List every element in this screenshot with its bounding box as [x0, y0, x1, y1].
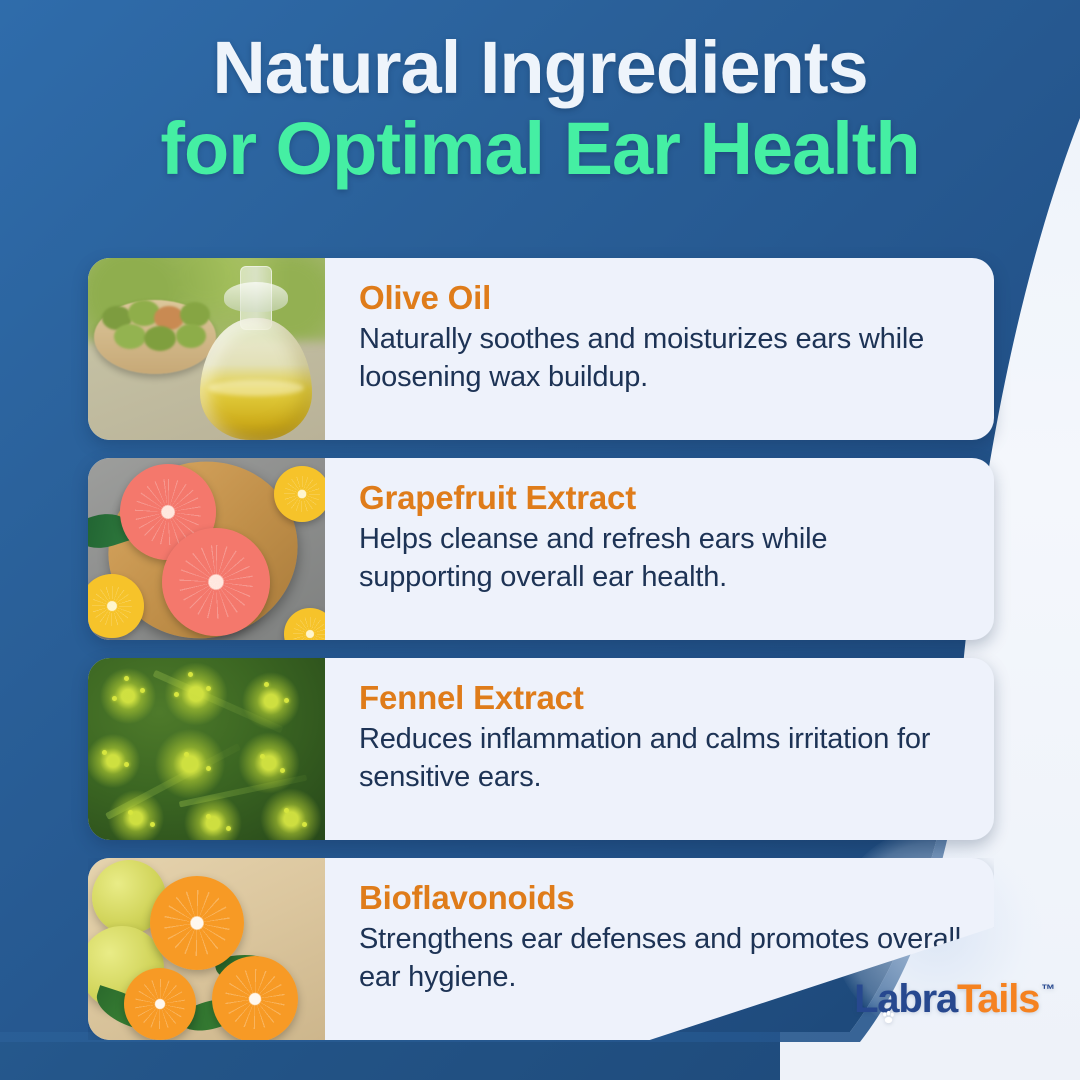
- card-title: Bioflavonoids: [359, 880, 966, 916]
- ingredient-image-olive-oil: [88, 258, 325, 440]
- ingredient-card-list: Olive Oil Naturally soothes and moisturi…: [88, 258, 994, 1058]
- card-title: Grapefruit Extract: [359, 480, 966, 516]
- ingredient-card-fennel-extract[interactable]: Fennel Extract Reduces inflammation and …: [88, 658, 994, 840]
- brand-logo[interactable]: Labra Tails ™: [854, 977, 1054, 1022]
- card-title: Fennel Extract: [359, 680, 966, 716]
- logo-trademark: ™: [1041, 981, 1054, 997]
- ingredient-card-olive-oil[interactable]: Olive Oil Naturally soothes and moisturi…: [88, 258, 994, 440]
- ingredient-image-fennel: [88, 658, 325, 840]
- card-description: Reduces inflammation and calms irritatio…: [359, 720, 966, 798]
- card-body-olive-oil: Olive Oil Naturally soothes and moisturi…: [325, 258, 994, 440]
- logo-text-labra: Labra: [854, 977, 957, 1022]
- title-line-1: Natural Ingredients: [0, 30, 1080, 105]
- card-body-fennel-extract: Fennel Extract Reduces inflammation and …: [325, 658, 994, 840]
- card-description: Helps cleanse and refresh ears while sup…: [359, 520, 966, 598]
- page-title: Natural Ingredients for Optimal Ear Heal…: [0, 30, 1080, 187]
- logo-text-tails: Tails: [957, 977, 1039, 1022]
- title-line-2: for Optimal Ear Health: [0, 111, 1080, 186]
- ingredient-image-grapefruit: [88, 458, 325, 640]
- ingredient-card-grapefruit-extract[interactable]: Grapefruit Extract Helps cleanse and ref…: [88, 458, 994, 640]
- card-body-grapefruit-extract: Grapefruit Extract Helps cleanse and ref…: [325, 458, 994, 640]
- card-title: Olive Oil: [359, 280, 966, 316]
- card-description: Naturally soothes and moisturizes ears w…: [359, 320, 966, 398]
- ingredient-image-bioflavonoids: [88, 858, 325, 1040]
- poster-canvas: Natural Ingredients for Optimal Ear Heal…: [0, 0, 1080, 1080]
